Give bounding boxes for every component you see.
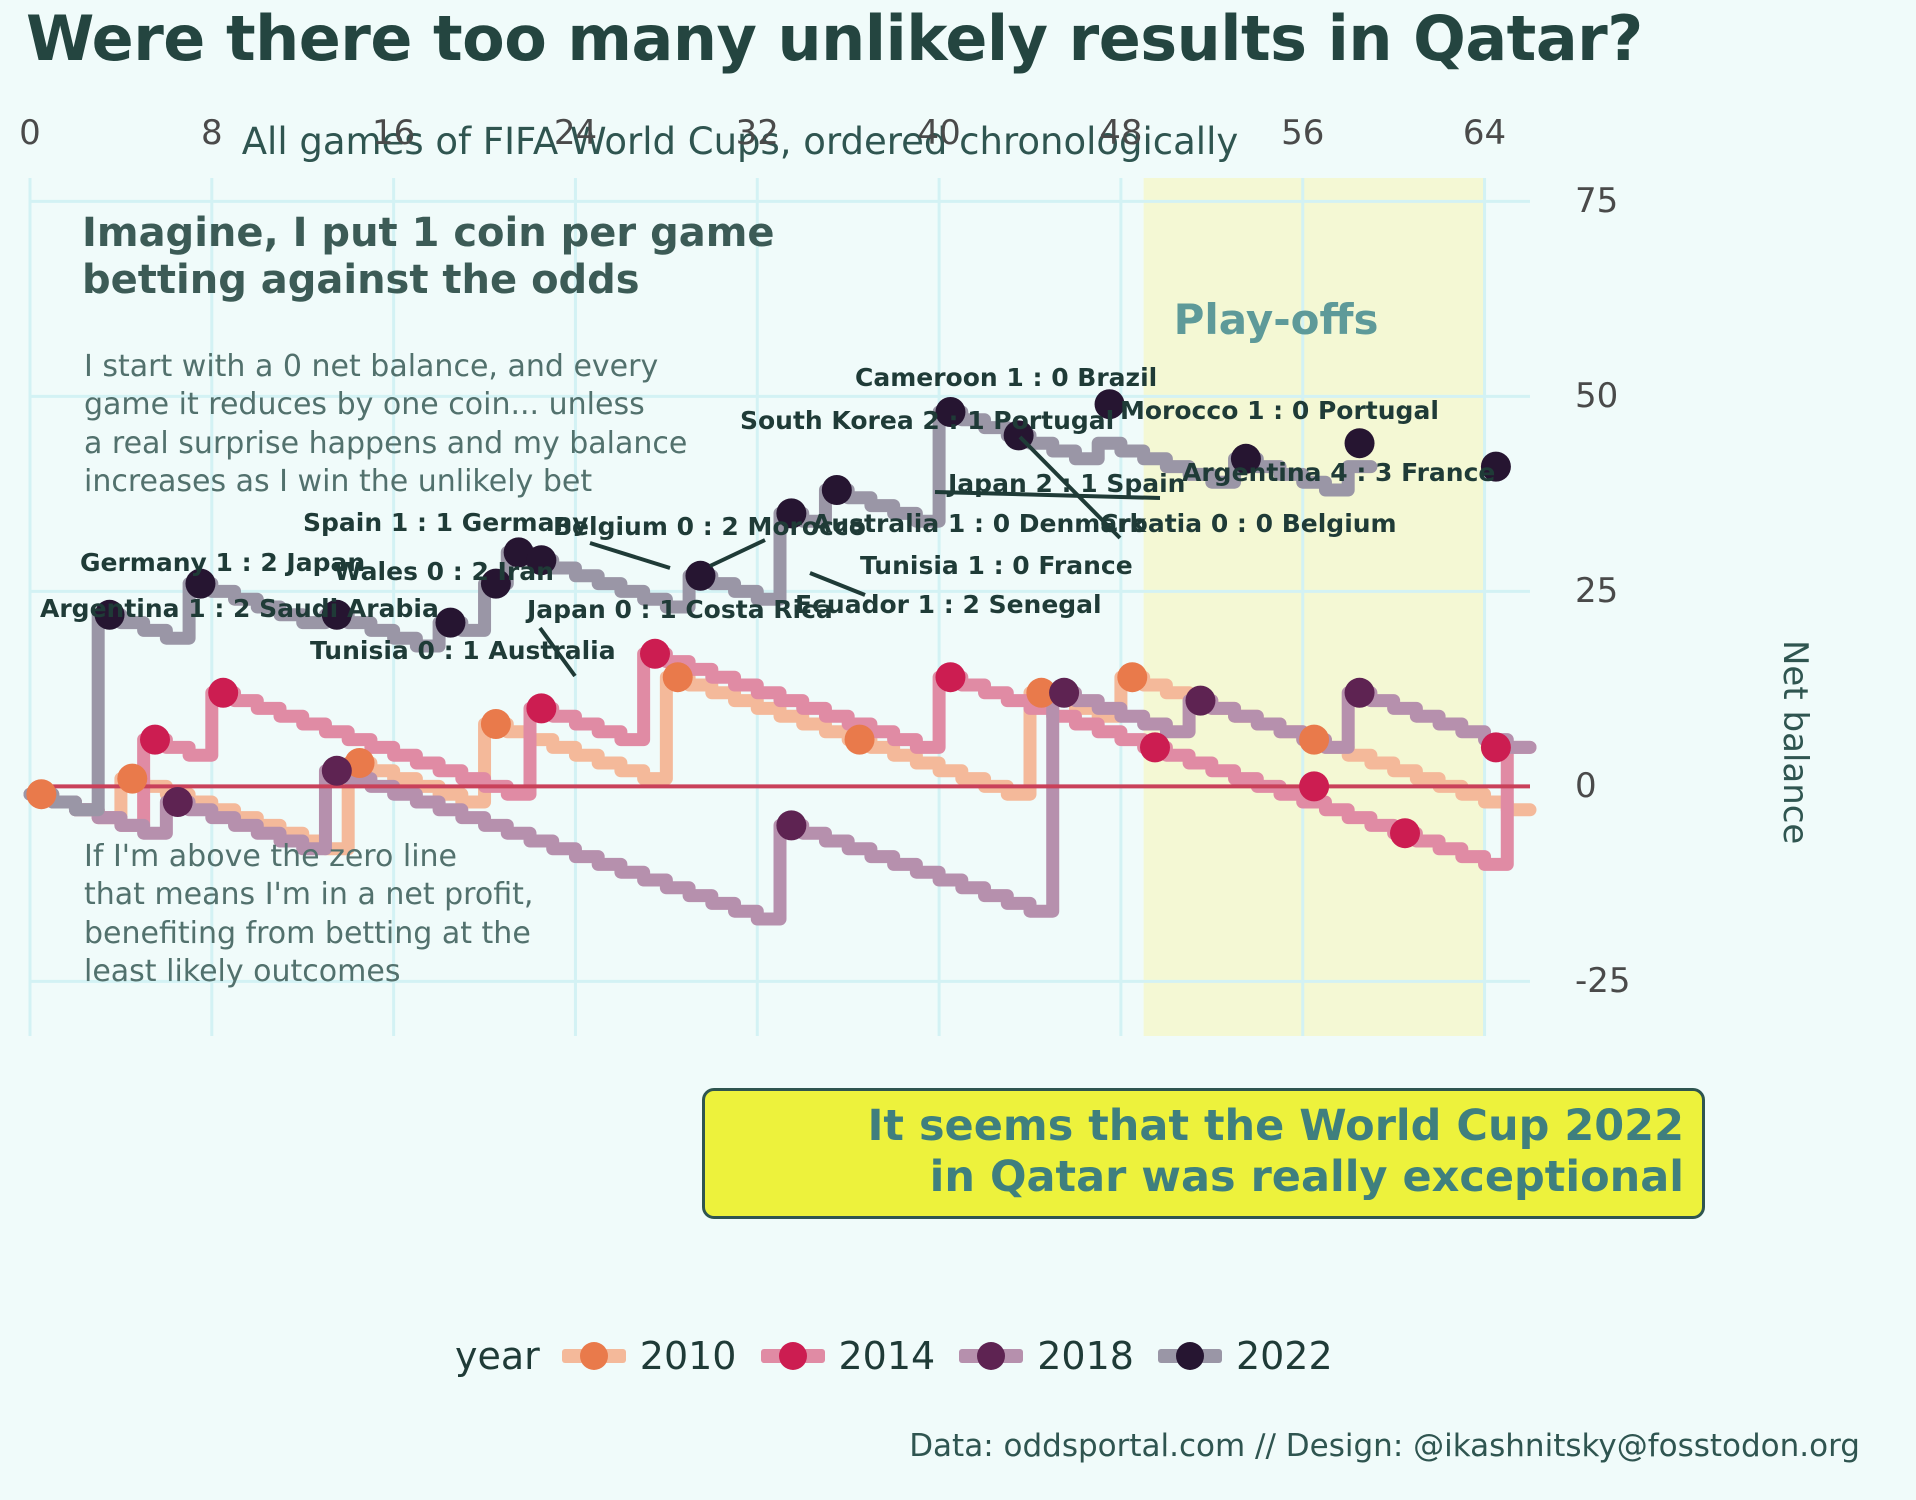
legend-label: 2010 <box>640 1334 737 1378</box>
surprise-marker <box>776 810 806 840</box>
surprise-marker <box>935 662 965 692</box>
x-tick-label: 24 <box>554 113 597 153</box>
surprise-marker <box>1185 686 1215 716</box>
match-annotation-argentina-saudi: Argentina 1 : 2 Saudi Arabia <box>40 594 439 623</box>
lead-line-2: betting against the odds <box>82 257 775 304</box>
match-annotation-tunisia-france: Tunisia 1 : 0 France <box>860 551 1133 580</box>
match-annotation-morocco-portugal: Morocco 1 : 0 Portugal <box>1120 396 1439 425</box>
legend-title: year <box>455 1334 540 1378</box>
surprise-marker <box>1299 725 1329 755</box>
match-annotation-spain-germany: Spain 1 : 1 Germany <box>303 508 589 537</box>
x-tick-label: 40 <box>917 113 960 153</box>
note-top-line-2: game it reduces by one coin... unless <box>84 386 687 424</box>
legend-key-dot <box>779 1342 807 1370</box>
match-annotation-australia-denmark: Australia 1 : 0 Denmark <box>812 509 1146 538</box>
surprise-marker <box>822 475 852 505</box>
match-annotation-japan-costarica: Japan 0 : 1 Costa Rica <box>527 595 833 624</box>
surprise-marker <box>640 639 670 669</box>
callout-line-1: It seems that the World Cup 2022 <box>723 1101 1684 1152</box>
match-annotation-germany-japan: Germany 1 : 2 Japan <box>80 548 365 577</box>
legend-key-swatch <box>562 1349 626 1363</box>
surprise-marker <box>526 693 556 723</box>
x-tick-label: 56 <box>1281 113 1324 153</box>
chart-caption: Data: oddsportal.com // Design: @ikashni… <box>0 1428 1860 1464</box>
x-tick-label: 48 <box>1099 113 1142 153</box>
note-top-line-1: I start with a 0 net balance, and every <box>84 348 687 386</box>
y-tick-label: 50 <box>1575 376 1618 416</box>
match-annotation-japan-spain: Japan 2 : 1 Spain <box>948 469 1185 498</box>
x-tick-label: 64 <box>1463 113 1506 153</box>
surprise-marker <box>208 678 238 708</box>
legend-key-dot <box>580 1342 608 1370</box>
surprise-marker <box>1140 732 1170 762</box>
surprise-marker <box>1481 732 1511 762</box>
note-bottom-line-3: benefiting from betting at the <box>84 915 533 953</box>
lead-line-1: Imagine, I put 1 coin per game <box>82 210 775 257</box>
legend-label: 2022 <box>1236 1334 1333 1378</box>
legend-item-2022[interactable]: 2022 <box>1158 1334 1333 1378</box>
surprise-marker <box>1390 818 1420 848</box>
surprise-marker <box>1117 662 1147 692</box>
match-annotation-ecuador-senegal: Ecuador 1 : 2 Senegal <box>795 590 1102 619</box>
note-bottom-line-1: If I'm above the zero line <box>84 838 533 876</box>
match-annotation-cameroon-brazil: Cameroon 1 : 0 Brazil <box>855 363 1157 392</box>
surprise-marker <box>845 725 875 755</box>
surprise-marker <box>117 764 147 794</box>
legend-key-swatch <box>959 1349 1023 1363</box>
surprise-marker <box>1345 678 1375 708</box>
annotation-leader-line <box>590 543 670 568</box>
y-axis-label: Net balance <box>1775 640 1815 844</box>
legend-key-dot <box>1176 1342 1204 1370</box>
legend-item-2010[interactable]: 2010 <box>562 1334 737 1378</box>
legend-item-2014[interactable]: 2014 <box>761 1334 936 1378</box>
callout-line-2: in Qatar was really exceptional <box>723 1152 1684 1203</box>
x-tick-label: 0 <box>19 113 41 153</box>
legend-key-dot <box>977 1342 1005 1370</box>
surprise-marker <box>140 725 170 755</box>
page-title: Were there too many unlikely results in … <box>26 2 1643 75</box>
legend-label: 2014 <box>839 1334 936 1378</box>
y-tick-label: 25 <box>1575 571 1618 611</box>
note-top-line-4: increases as I win the unlikely bet <box>84 463 687 501</box>
x-tick-label: 32 <box>736 113 779 153</box>
y-tick-label: 0 <box>1575 766 1597 806</box>
surprise-marker <box>26 779 56 809</box>
note-top-line-3: a real surprise happens and my balance <box>84 425 687 463</box>
chart-legend: year 2010201420182022 <box>455 1334 1357 1378</box>
x-tick-label: 8 <box>201 113 223 153</box>
surprise-marker <box>1049 678 1079 708</box>
x-tick-label: 16 <box>372 113 415 153</box>
legend-label: 2018 <box>1037 1334 1134 1378</box>
match-annotation-argentina-france: Argentina 4 : 3 France <box>1182 458 1495 487</box>
match-annotation-tunisia-australia: Tunisia 0 : 1 Australia <box>310 636 616 665</box>
y-tick-label: -25 <box>1575 961 1631 1001</box>
note-bottom-line-2: that means I'm in a net profit, <box>84 876 533 914</box>
match-annotation-croatia-belgium: Croatia 0 : 0 Belgium <box>1100 509 1397 538</box>
surprise-marker <box>163 787 193 817</box>
surprise-marker <box>435 608 465 638</box>
match-annotation-southkorea-portugal: South Korea 2 : 1 Portugal <box>740 406 1114 435</box>
surprise-marker <box>1345 428 1375 458</box>
callout-box: It seems that the World Cup 2022 in Qata… <box>702 1088 1705 1219</box>
legend-key-swatch <box>761 1349 825 1363</box>
legend-key-swatch <box>1158 1349 1222 1363</box>
surprise-marker <box>481 709 511 739</box>
match-annotation-wales-iran: Wales 0 : 2 Iran <box>334 557 554 586</box>
playoffs-band-label: Play-offs <box>1174 295 1379 344</box>
surprise-marker <box>322 756 352 786</box>
legend-item-2018[interactable]: 2018 <box>959 1334 1134 1378</box>
surprise-marker <box>663 662 693 692</box>
y-tick-label: 75 <box>1575 181 1618 221</box>
surprise-marker <box>1299 771 1329 801</box>
note-bottom-line-4: least likely outcomes <box>84 953 533 991</box>
